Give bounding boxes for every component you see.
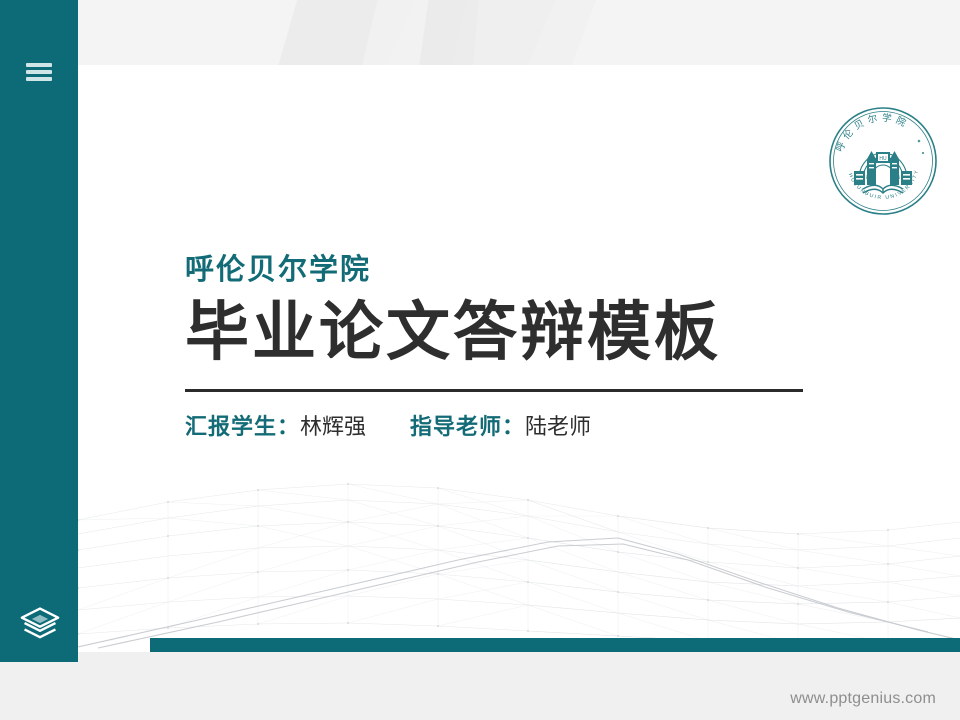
wireframe-mesh-decoration <box>78 442 960 652</box>
title-block: 呼伦贝尔学院 毕业论文答辩模板 汇报学生：林辉强指导老师：陆老师 <box>185 255 905 440</box>
card-footer-bar <box>150 638 960 652</box>
hamburger-bar-1 <box>26 63 52 67</box>
hulunbuir-university-seal: 呼伦贝尔学院 HULUNBUIR UNIVERSITY <box>823 101 943 221</box>
byline: 汇报学生：林辉强指导老师：陆老师 <box>185 414 905 440</box>
hamburger-menu-icon[interactable] <box>26 61 52 83</box>
left-accent-rail <box>0 0 78 662</box>
hamburger-bar-2 <box>26 70 52 74</box>
advisor-label: 指导老师： <box>410 414 525 439</box>
presenter-label: 汇报学生： <box>185 414 300 439</box>
advisor-name: 陆老师 <box>525 414 591 439</box>
svg-text:呼伦贝尔学院: 呼伦贝尔学院 <box>834 112 911 154</box>
watermark: www.pptgenius.com <box>790 690 936 708</box>
layers-stack-icon[interactable] <box>18 604 62 644</box>
slide-card: 呼伦贝尔学院 HULUNBUIR UNIVERSITY <box>78 65 960 652</box>
hamburger-bar-3 <box>26 77 52 81</box>
slide-stage: 呼伦贝尔学院 HULUNBUIR UNIVERSITY <box>0 0 960 720</box>
svg-text:HU: HU <box>879 156 887 162</box>
title-divider <box>185 388 803 392</box>
presenter-name: 林辉强 <box>300 414 366 439</box>
page-title: 毕业论文答辩模板 <box>185 299 905 366</box>
school-name: 呼伦贝尔学院 <box>185 255 905 287</box>
